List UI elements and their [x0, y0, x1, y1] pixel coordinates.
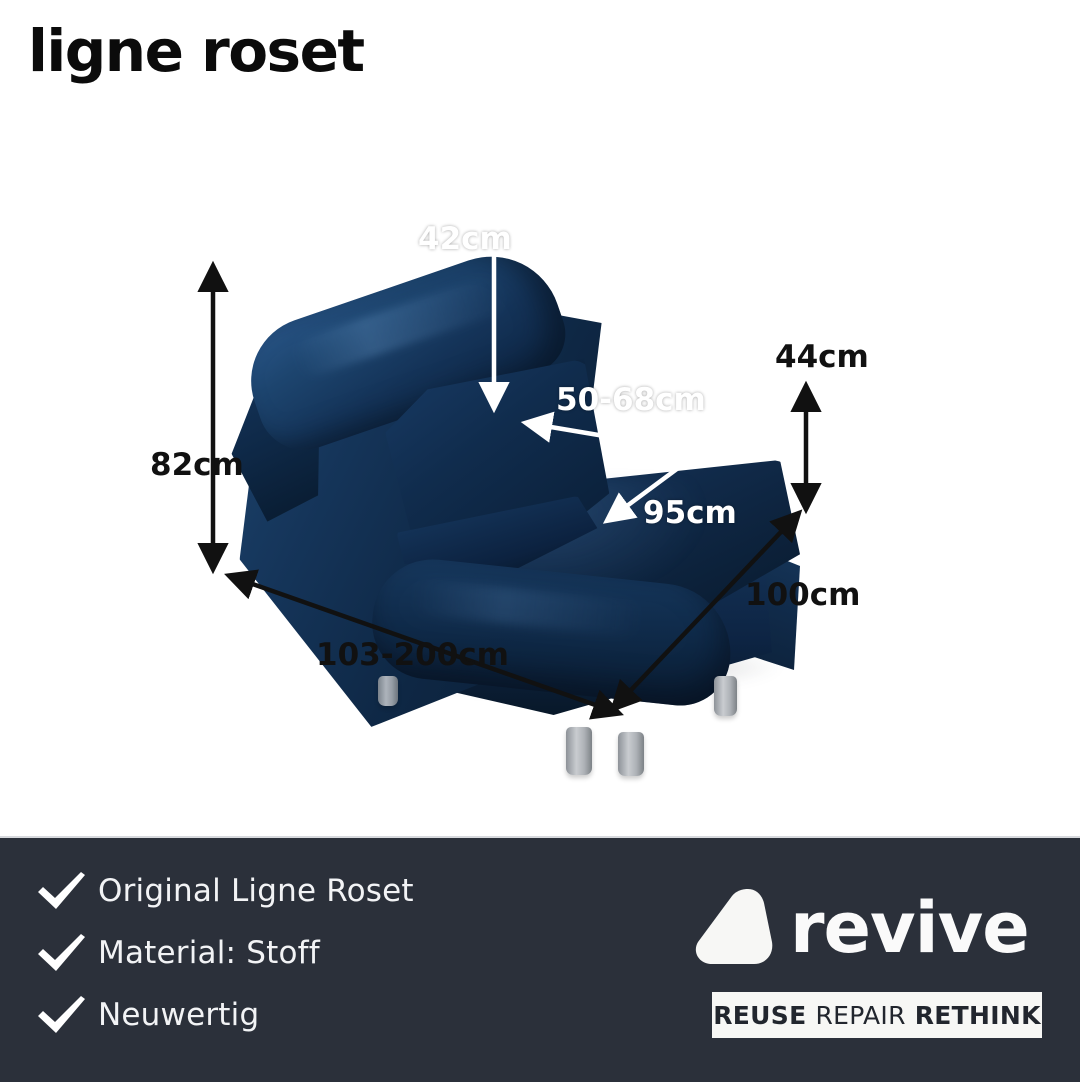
dimension-label-seat-depth: 50-68cm [556, 385, 706, 416]
revive-logo: revive REUSE REPAIR RETHINK [694, 876, 1054, 1038]
check-icon [24, 993, 98, 1037]
dimension-label-backrest-height: 42cm [418, 224, 512, 255]
dimension-label-total-depth: 100cm [745, 580, 860, 611]
check-icon [24, 869, 98, 913]
product-image-canvas: ligne roset [0, 0, 1080, 1080]
feature-text: Neuwertig [98, 997, 259, 1033]
tagline-rethink: RETHINK [915, 1001, 1041, 1030]
feature-text: Original Ligne Roset [98, 873, 414, 909]
ligne-roset-logo: ligne roset [28, 22, 364, 80]
list-item: Material: Stoff [24, 922, 624, 984]
arrow-seat-depth [527, 423, 670, 447]
list-item: Neuwertig [24, 984, 624, 1046]
revive-logo-row: revive [694, 876, 1054, 980]
dimension-label-seat-height: 44cm [775, 342, 869, 373]
feature-list: Original Ligne Roset Material: Stoff Neu… [24, 860, 624, 1046]
tagline-repair: REPAIR [815, 1001, 905, 1030]
dimension-label-seat-width: 95cm [643, 498, 737, 529]
product-photo: 42cm 50-68cm 95cm 44cm 82cm 103-200cm 10… [0, 120, 1080, 835]
revive-leaf-icon [694, 886, 790, 970]
footer-band: Original Ligne Roset Material: Stoff Neu… [0, 836, 1080, 1082]
feature-text: Material: Stoff [98, 935, 320, 971]
revive-tagline: REUSE REPAIR RETHINK [712, 992, 1042, 1038]
dimension-label-total-height: 82cm [150, 450, 244, 481]
check-icon [24, 931, 98, 975]
dimension-label-total-width: 103-200cm [316, 640, 509, 671]
revive-wordmark: revive [790, 893, 1029, 963]
list-item: Original Ligne Roset [24, 860, 624, 922]
tagline-reuse: REUSE [713, 1001, 806, 1030]
